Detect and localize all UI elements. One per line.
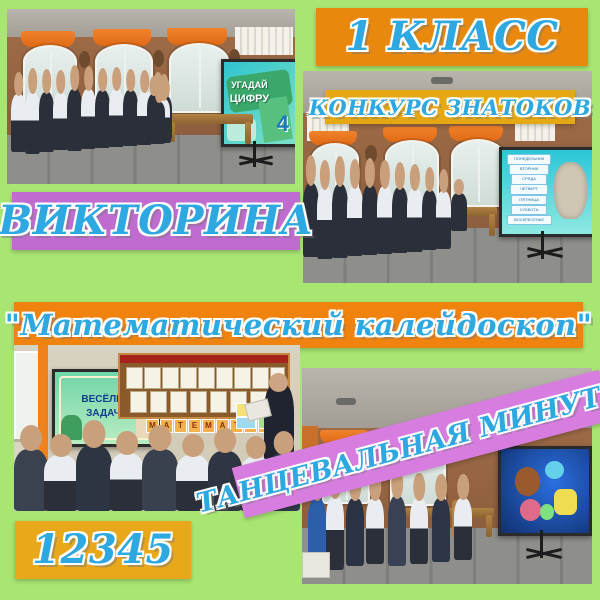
- slide-line-1: УГАДАЙ: [231, 80, 267, 90]
- photo-collage: УГАДАЙ ЦИФРУ 4: [0, 0, 600, 600]
- projector-screen-cartoon: [498, 446, 592, 536]
- banner-konkurs-znatokov: КОНКУРС ЗНАТОКОВ: [325, 90, 575, 124]
- banner-viktorina: ВИКТОРИНА: [12, 192, 300, 250]
- weekday-row: ПЯТНИЦА: [511, 195, 547, 205]
- banner-1-klass: 1 КЛАСС: [316, 8, 588, 66]
- banner-kaleidoscope-text: "Математический калейдоскоп": [5, 311, 593, 340]
- projector-screen-weekdays: ПОНЕДЕЛЬНИК ВТОРНИК СРЕДА ЧЕТВЕРГ ПЯТНИЦ…: [499, 147, 592, 237]
- weekday-row: ВТОРНИК: [509, 164, 549, 174]
- weekday-row: ПОНЕДЕЛЬНИК: [507, 154, 550, 164]
- banner-kaleidoscope: "Математический калейдоскоп": [14, 302, 583, 348]
- weekday-row: ЧЕТВЕРГ: [510, 184, 548, 194]
- weekday-row: СУББОТА: [511, 205, 547, 215]
- projector-screen: УГАДАЙ ЦИФРУ 4: [221, 59, 295, 147]
- banner-1-klass-text: 1 КЛАСС: [345, 17, 558, 57]
- banner-numbers-text: 12345: [32, 530, 174, 570]
- letter-tile: Т: [174, 419, 187, 433]
- weekday-row: ВОСКРЕСЕНЬЕ: [507, 215, 552, 225]
- slide-line-2: ЦИФРУ: [230, 93, 269, 105]
- slide-number: 4: [277, 111, 289, 137]
- photo-assembly-hall: УГАДАЙ ЦИФРУ 4: [7, 9, 295, 184]
- banner-viktorina-text: ВИКТОРИНА: [0, 201, 314, 241]
- letter-tile: М: [202, 419, 215, 433]
- banner-numbers: 12345: [15, 521, 191, 579]
- banner-konkurs-znatokov-text: КОНКУРС ЗНАТОКОВ: [309, 97, 591, 118]
- letter-tile: Е: [188, 419, 201, 433]
- weekday-row: СРЕДА: [511, 174, 547, 184]
